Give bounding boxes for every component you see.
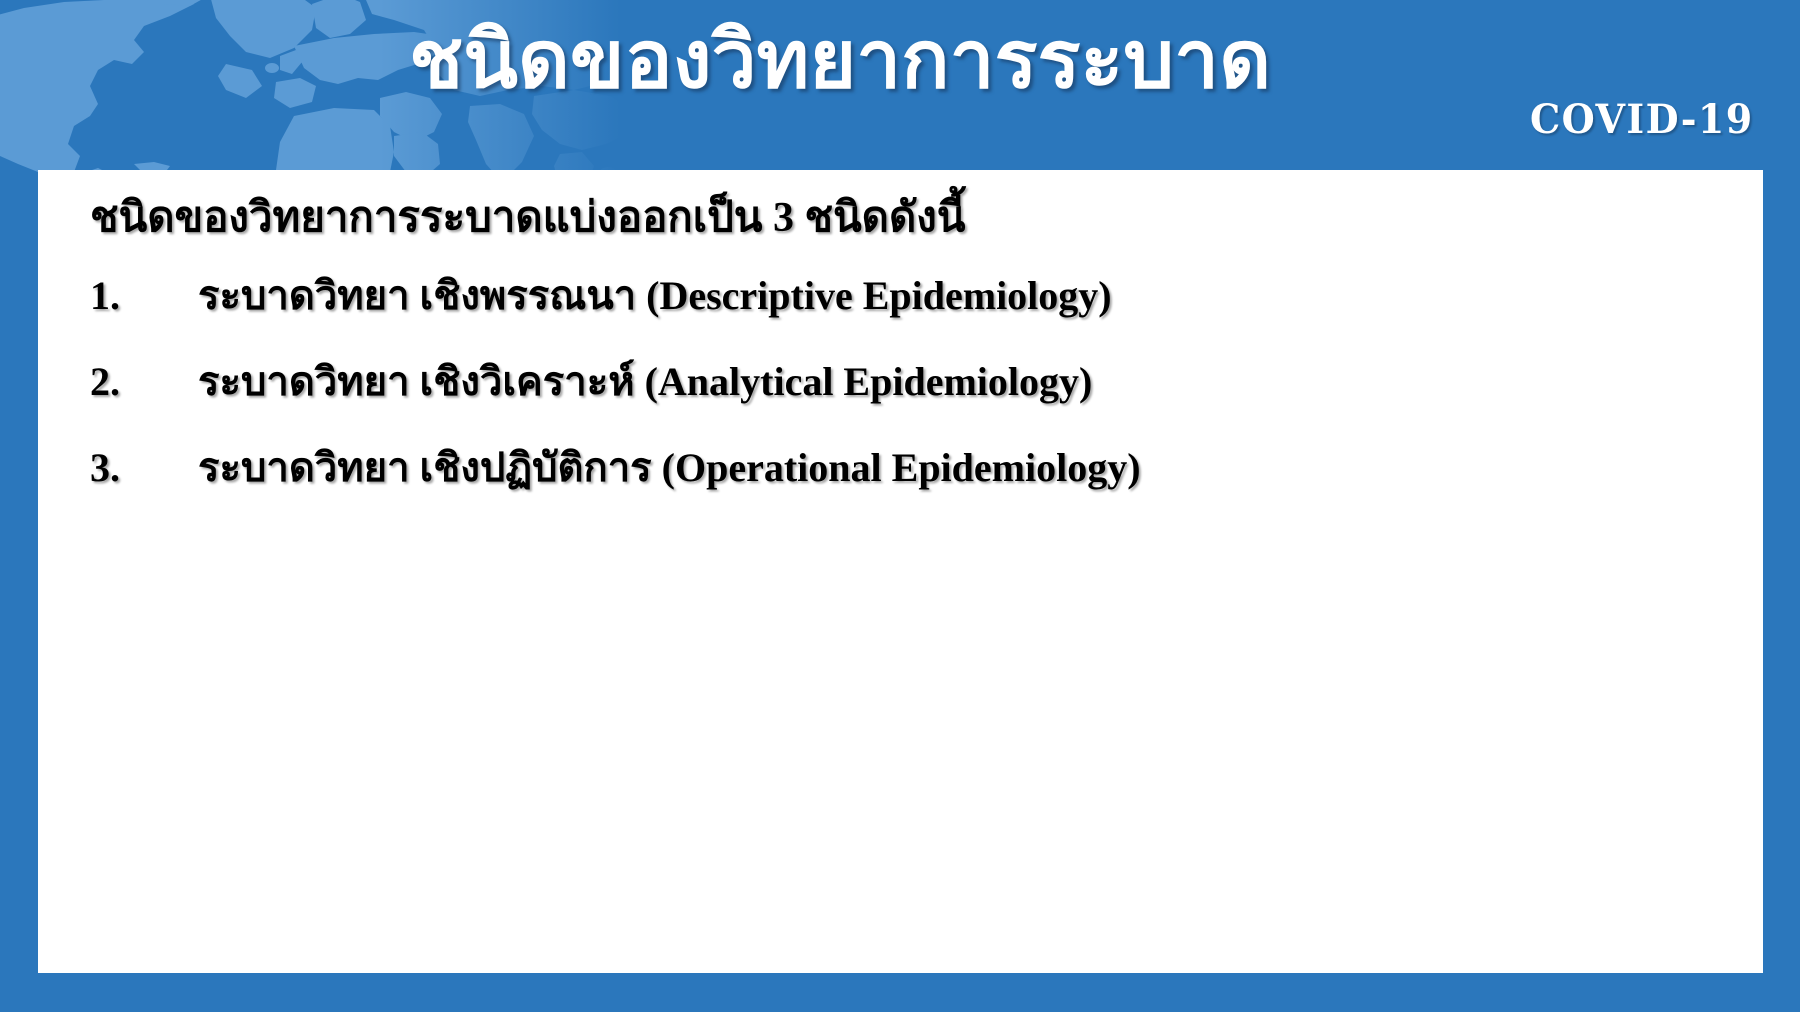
list-item-marker: 1. — [90, 272, 198, 320]
list-item-label: ระบาดวิทยา เชิงวิเคราะห์ (Analytical Epi… — [198, 358, 1092, 406]
list-item-label: ระบาดวิทยา เชิงพรรณนา (Descriptive Epide… — [198, 272, 1112, 320]
list-item: 1. ระบาดวิทยา เชิงพรรณนา (Descriptive Ep… — [90, 272, 1739, 320]
epidemiology-type-list: 1. ระบาดวิทยา เชิงพรรณนา (Descriptive Ep… — [90, 272, 1739, 492]
list-item: 2. ระบาดวิทยา เชิงวิเคราะห์ (Analytical … — [90, 358, 1739, 406]
list-item-marker: 3. — [90, 444, 198, 492]
covid-19-badge: COVID-19 — [1530, 100, 1754, 140]
slide-header: ชนิดของวิทยาการระบาด COVID-19 — [0, 0, 1800, 176]
slide: ชนิดของวิทยาการระบาด COVID-19 ชนิดของวิท… — [0, 0, 1800, 1012]
body-block: ชนิดของวิทยาการระบาดแบ่งออกเป็น 3 ชนิดดั… — [90, 192, 1739, 530]
page-title: ชนิดของวิทยาการระบาด — [340, 14, 1340, 108]
lead-paragraph: ชนิดของวิทยาการระบาดแบ่งออกเป็น 3 ชนิดดั… — [90, 192, 1739, 244]
list-item-label: ระบาดวิทยา เชิงปฏิบัติการ (Operational E… — [198, 444, 1141, 492]
content-panel: ชนิดของวิทยาการระบาดแบ่งออกเป็น 3 ชนิดดั… — [38, 170, 1763, 973]
list-item: 3. ระบาดวิทยา เชิงปฏิบัติการ (Operationa… — [90, 444, 1739, 492]
list-item-marker: 2. — [90, 358, 198, 406]
